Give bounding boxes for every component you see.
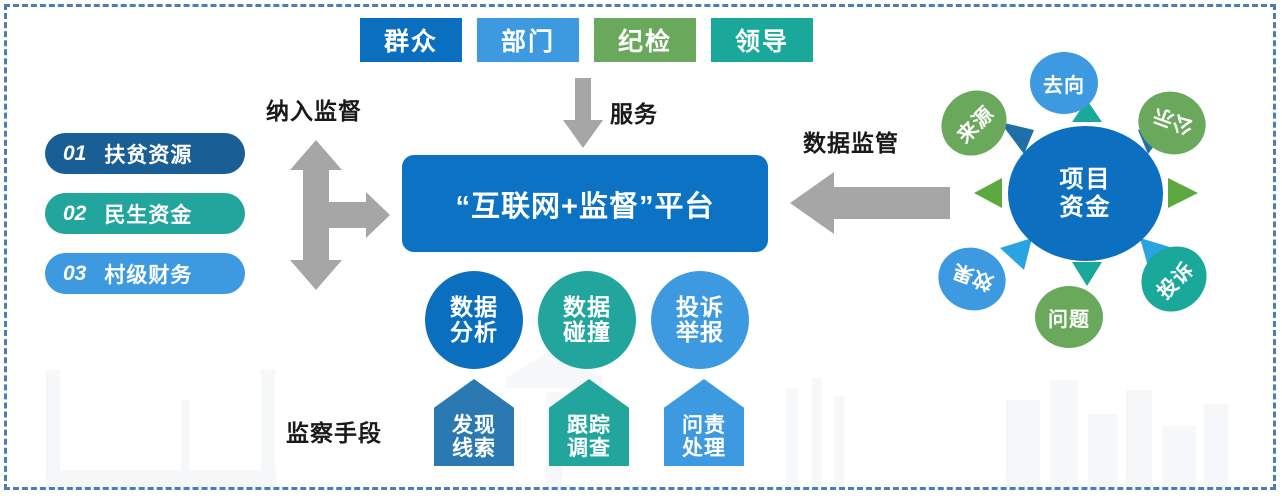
- outcome-banner-find-clues[interactable]: 发现 线索: [434, 379, 514, 466]
- satellite-label: 问题: [1048, 303, 1090, 332]
- satellite-label: 效果: [947, 258, 996, 300]
- method-line-2: 碰撞: [563, 320, 611, 345]
- radial-center-project-fund[interactable]: 项目 资金: [1008, 126, 1163, 261]
- tag-masses[interactable]: 群众: [360, 18, 462, 62]
- method-circle-data-analysis[interactable]: 数据 分析: [425, 271, 523, 369]
- satellite-label: 来源: [949, 98, 999, 148]
- pill-number: 02: [63, 202, 86, 226]
- pill-label: 扶贫资源: [104, 139, 192, 169]
- satellite-destination[interactable]: 去向: [1030, 52, 1098, 114]
- method-line-2: 分析: [450, 320, 498, 345]
- tag-department[interactable]: 部门: [477, 18, 579, 62]
- platform-box[interactable]: “互联网+监督”平台: [402, 155, 768, 252]
- satellite-label: 投诉: [1149, 254, 1199, 304]
- pill-item-03[interactable]: 03 村级财务: [45, 253, 245, 294]
- radial-arrow-lower-left-icon: [1000, 238, 1032, 270]
- data-supervision-left-arrow: [790, 172, 950, 234]
- method-line-1: 数据: [450, 295, 498, 320]
- method-circle-data-collision[interactable]: 数据 碰撞: [538, 271, 636, 369]
- satellite-label: 去向: [1043, 69, 1085, 98]
- outcome-line-2: 线索: [452, 437, 496, 460]
- infographic-canvas: 群众 部门 纪检 领导 01 扶贫资源 02 民生资金 03 村级财务: [0, 0, 1282, 496]
- satellite-problem[interactable]: 问题: [1035, 286, 1103, 348]
- label-inspection-means: 监察手段: [286, 414, 382, 448]
- pill-item-02[interactable]: 02 民生资金: [45, 193, 245, 234]
- satellite-source[interactable]: 来源: [928, 77, 1020, 169]
- outcome-banner-row: 发现 线索 跟踪 调查 问责 处理: [434, 379, 744, 466]
- method-circle-row: 数据 分析 数据 碰撞 投诉 举报: [425, 271, 749, 369]
- tag-discipline[interactable]: 纪检: [594, 18, 696, 62]
- satellite-complaint[interactable]: 投诉: [1128, 233, 1220, 325]
- method-line-1: 数据: [563, 295, 611, 320]
- label-service: 服务: [610, 95, 658, 129]
- project-fund-radial: 去向 公示 投诉 问题 效果 来源 项目 资金: [930, 30, 1260, 370]
- label-data-supervision: 数据监管: [803, 124, 899, 158]
- method-circle-complaint-report[interactable]: 投诉 举报: [651, 271, 749, 369]
- tag-leadership[interactable]: 领导: [711, 18, 813, 62]
- pill-item-01[interactable]: 01 扶贫资源: [45, 133, 245, 174]
- outcome-line-1: 跟踪: [567, 414, 611, 437]
- outcome-banner-track-investigate[interactable]: 跟踪 调查: [549, 379, 629, 466]
- radial-arrow-right-icon: [1168, 178, 1198, 208]
- outcome-line-1: 问责: [682, 414, 726, 437]
- label-include-supervision: 纳入监督: [266, 92, 362, 126]
- pill-number: 01: [63, 142, 86, 166]
- pill-label: 民生资金: [104, 199, 192, 229]
- outcome-line-2: 调查: [567, 437, 611, 460]
- satellite-effect[interactable]: 效果: [929, 238, 1014, 320]
- radial-arrow-down-icon: [1072, 262, 1102, 286]
- resource-pill-list: 01 扶贫资源 02 民生资金 03 村级财务: [45, 133, 245, 313]
- radial-center-line-1: 项目: [1060, 166, 1112, 194]
- stakeholder-tag-row: 群众 部门 纪检 领导: [360, 18, 813, 62]
- radial-arrow-left-icon: [974, 178, 1002, 208]
- method-line-1: 投诉: [676, 295, 724, 320]
- satellite-label: 公示: [1147, 102, 1196, 144]
- bidirectional-branch-arrow: [282, 140, 392, 290]
- service-down-arrow: [562, 78, 604, 148]
- radial-center-line-2: 资金: [1060, 194, 1112, 222]
- outcome-line-2: 处理: [682, 437, 726, 460]
- outcome-banner-accountability[interactable]: 问责 处理: [664, 379, 744, 466]
- pill-number: 03: [63, 262, 86, 286]
- method-line-2: 举报: [676, 320, 724, 345]
- pill-label: 村级财务: [104, 259, 192, 289]
- outcome-line-1: 发现: [452, 414, 496, 437]
